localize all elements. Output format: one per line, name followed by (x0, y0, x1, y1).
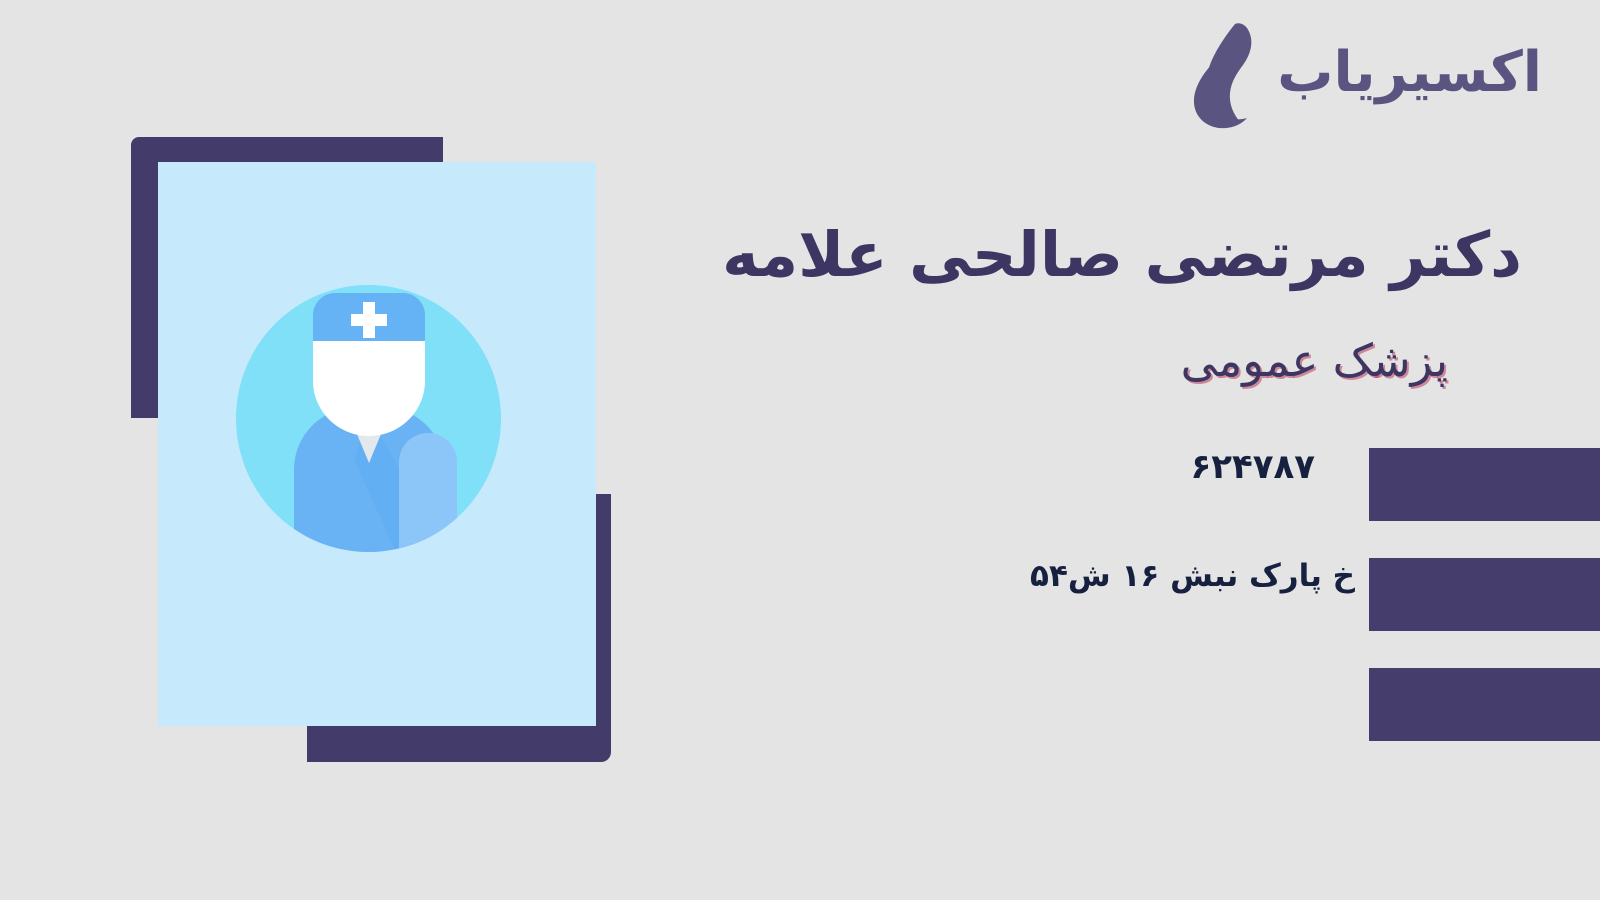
edge-bar-1 (1369, 448, 1600, 521)
avatar-circle-background (236, 285, 501, 552)
doctor-phone: ۶۲۴۷۸۷ (1190, 447, 1315, 488)
doctor-avatar-icon (236, 285, 501, 552)
doctor-specialty: پزشک عمومی (1181, 334, 1448, 388)
doctor-name: دکتر مرتضی صالحی علامه (722, 218, 1522, 291)
avatar (236, 285, 501, 552)
doctor-illustration (131, 137, 611, 762)
doctor-profile-card: اکسیریاب (0, 0, 1600, 900)
edge-bar-2 (1369, 558, 1600, 631)
doctor-address: خ پارک نبش ۱۶ ش۵۴ (1030, 558, 1355, 595)
edge-bar-3 (1369, 668, 1600, 741)
